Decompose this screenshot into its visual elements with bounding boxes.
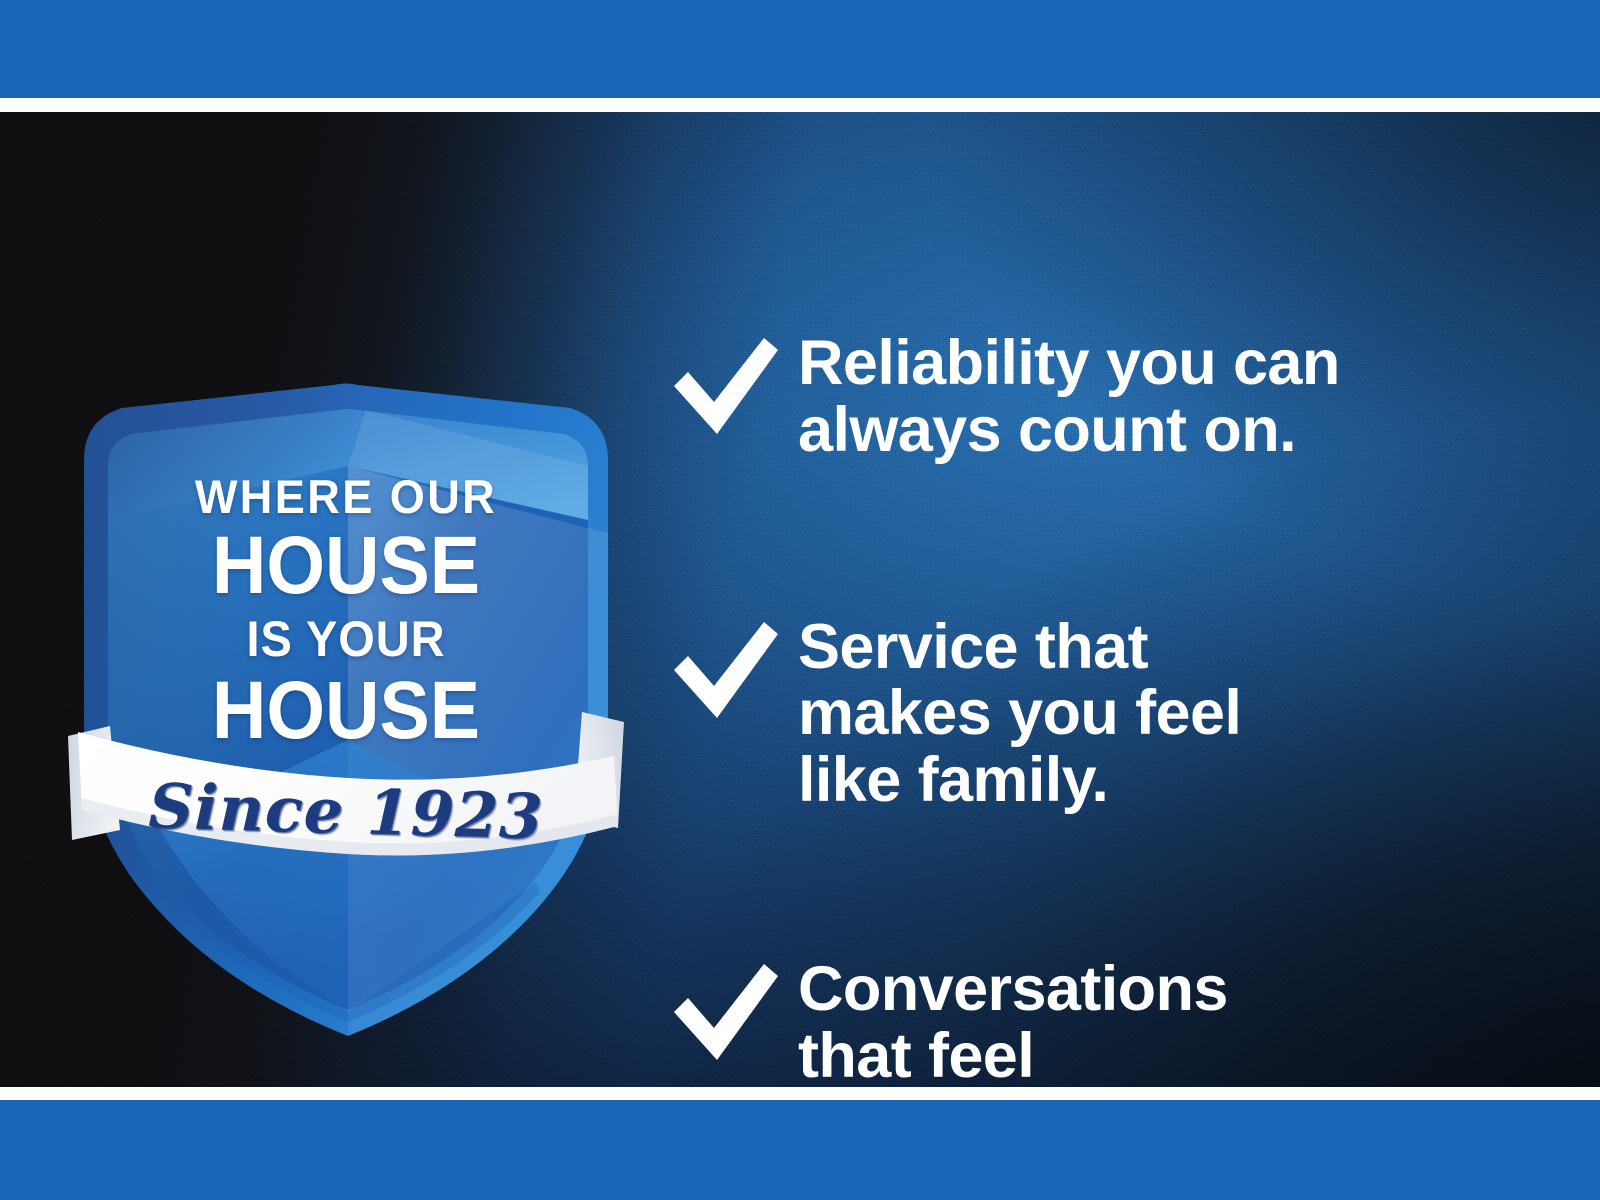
promo-graphic: Where Our House Is Your House Since 1923… — [0, 0, 1600, 1200]
list-item-text: Reliability you can always count on. — [798, 330, 1528, 464]
top-brand-bar — [0, 0, 1600, 98]
list-item: Conversations that feel like home. — [668, 956, 1528, 1087]
shield-badge: Where Our House Is Your House Since 1923 — [66, 270, 626, 1040]
list-item: Reliability you can always count on. — [668, 330, 1528, 464]
bottom-brand-bar — [0, 1100, 1600, 1200]
content-stage: Where Our House Is Your House Since 1923… — [0, 112, 1600, 1087]
badge-line-3: Is Your — [83, 614, 609, 664]
benefit-list: Reliability you can always count on. Ser… — [668, 312, 1528, 1087]
list-item-text: Conversations that feel like home. — [798, 956, 1528, 1087]
badge-line-4: House — [88, 670, 603, 752]
checkmark-icon — [668, 330, 798, 440]
badge-line-2: House — [88, 525, 603, 607]
badge-since-text: Since 1923 — [65, 767, 627, 856]
badge-line-1: Where Our — [77, 473, 615, 520]
list-item-text: Service that makes you feel like family. — [798, 614, 1528, 814]
checkmark-icon — [668, 956, 798, 1066]
list-item: Service that makes you feel like family. — [668, 614, 1528, 814]
checkmark-icon — [668, 614, 798, 724]
